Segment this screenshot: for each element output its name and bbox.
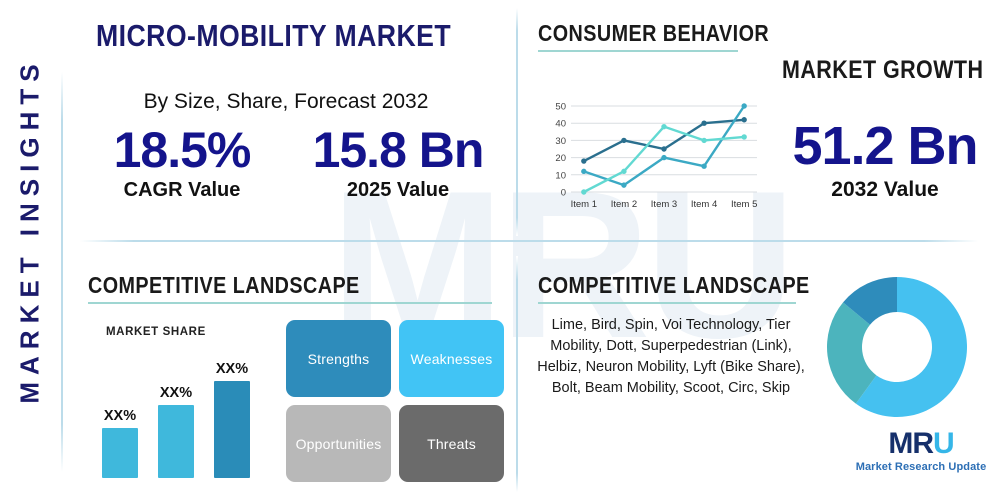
stat-2032-value: 51.2 Bn [772, 115, 998, 177]
bar-item: XX% [214, 361, 250, 478]
market-growth-heading: MARKET GROWTH [782, 56, 983, 85]
bar [214, 381, 250, 478]
competitive-landscape-left-underline [88, 302, 492, 304]
swot-cell-strengths[interactable]: Strengths [286, 320, 391, 397]
svg-text:40: 40 [555, 119, 566, 130]
stat-cagr-label: CAGR Value [96, 179, 268, 202]
logo-tagline: Market Research Update [846, 461, 996, 473]
market-insights-label: MARKET INSIGHTS [15, 11, 46, 451]
svg-text:50: 50 [555, 102, 566, 113]
svg-text:Item 4: Item 4 [691, 199, 717, 210]
stat-2025-label: 2025 Value [300, 179, 496, 202]
stat-2025-value: 15.8 Bn [300, 122, 496, 178]
bar-item: XX% [158, 385, 194, 478]
svg-text:Item 5: Item 5 [731, 199, 757, 210]
stat-cagr: 18.5% CAGR Value [96, 122, 268, 202]
page-title: MICRO-MOBILITY MARKET [96, 18, 451, 54]
competitive-landscape-right-underline [538, 302, 796, 304]
stat-2025: 15.8 Bn 2025 Value [300, 122, 496, 202]
svg-text:Item 3: Item 3 [651, 199, 677, 210]
consumer-behavior-underline [538, 50, 738, 52]
logo-wordmark: MRU [846, 428, 996, 460]
sidebar-divider [61, 72, 63, 472]
vertical-divider-top [516, 8, 518, 236]
market-share-bar-chart: XX%XX%XX% [100, 336, 268, 478]
competitive-landscape-left-heading: COMPETITIVE LANDSCAPE [88, 272, 360, 299]
bar [158, 405, 194, 478]
consumer-behavior-heading: CONSUMER BEHAVIOR [538, 20, 769, 47]
company-list: Lime, Bird, Spin, Voi Technology, Tier M… [530, 315, 812, 399]
consumer-behavior-line-chart: 01020304050Item 1Item 2Item 3Item 4Item … [545, 100, 760, 218]
swot-cell-weaknesses[interactable]: Weaknesses [399, 320, 504, 397]
stat-2032: 51.2 Bn 2032 Value [772, 115, 998, 202]
bar-value-label: XX% [158, 385, 194, 401]
svg-text:30: 30 [555, 136, 566, 147]
logo-mark-accent: U [933, 427, 954, 460]
vertical-divider-bottom [516, 256, 518, 492]
swot-cell-threats[interactable]: Threats [399, 405, 504, 482]
page-subtitle: By Size, Share, Forecast 2032 [86, 90, 486, 114]
bar [102, 428, 138, 478]
svg-text:Item 1: Item 1 [571, 199, 597, 210]
logo-mark-dark: MR [888, 427, 933, 460]
svg-text:10: 10 [555, 170, 566, 181]
market-donut-chart [826, 276, 968, 418]
stat-2032-label: 2032 Value [772, 178, 998, 202]
bar-value-label: XX% [214, 361, 250, 377]
svg-text:Item 2: Item 2 [611, 199, 637, 210]
mru-logo: MRU Market Research Update [846, 428, 996, 473]
swot-grid: StrengthsWeaknessesOpportunitiesThreats [286, 320, 504, 482]
stat-cagr-value: 18.5% [96, 122, 268, 178]
bar-value-label: XX% [102, 408, 138, 424]
horizontal-divider [80, 240, 978, 242]
competitive-landscape-right-heading: COMPETITIVE LANDSCAPE [538, 272, 810, 299]
svg-text:0: 0 [561, 188, 566, 199]
vertical-sidebar: MARKET INSIGHTS [0, 0, 62, 500]
bar-item: XX% [102, 408, 138, 478]
swot-cell-opportunities[interactable]: Opportunities [286, 405, 391, 482]
svg-text:20: 20 [555, 153, 566, 164]
